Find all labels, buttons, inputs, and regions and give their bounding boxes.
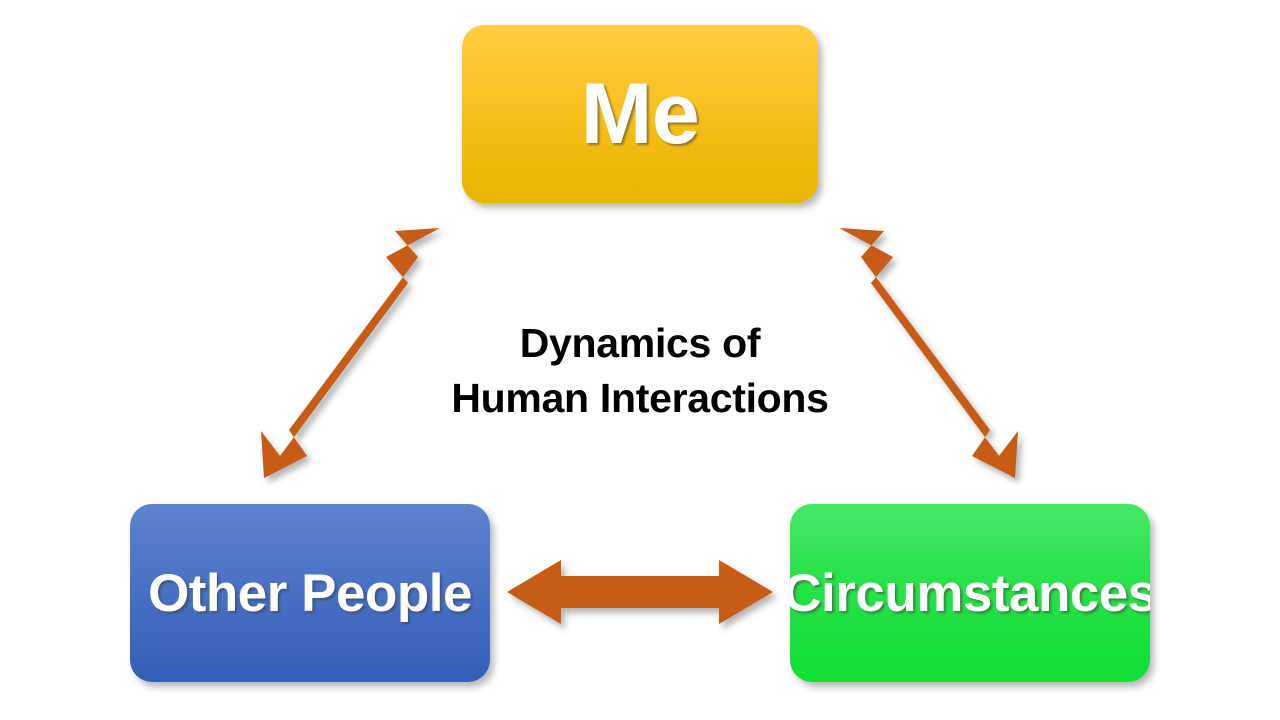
node-other-people[interactable]: Other People (130, 504, 490, 682)
diagram-center-caption: Dynamics of Human Interactions (390, 316, 890, 427)
node-circumstances[interactable]: Circumstances (790, 504, 1150, 682)
node-circumstances-label: Circumstances (790, 567, 1150, 620)
node-me[interactable]: Me (462, 25, 818, 203)
diagram-canvas: Me Other People Circumstances Dynamics o… (0, 0, 1280, 720)
double-arrow-other-people-circumstances-icon (507, 560, 773, 624)
center-caption-line-1: Dynamics of (390, 316, 890, 371)
node-other-people-label: Other People (148, 567, 472, 620)
center-caption-line-2: Human Interactions (390, 371, 890, 426)
node-me-label: Me (581, 71, 699, 157)
